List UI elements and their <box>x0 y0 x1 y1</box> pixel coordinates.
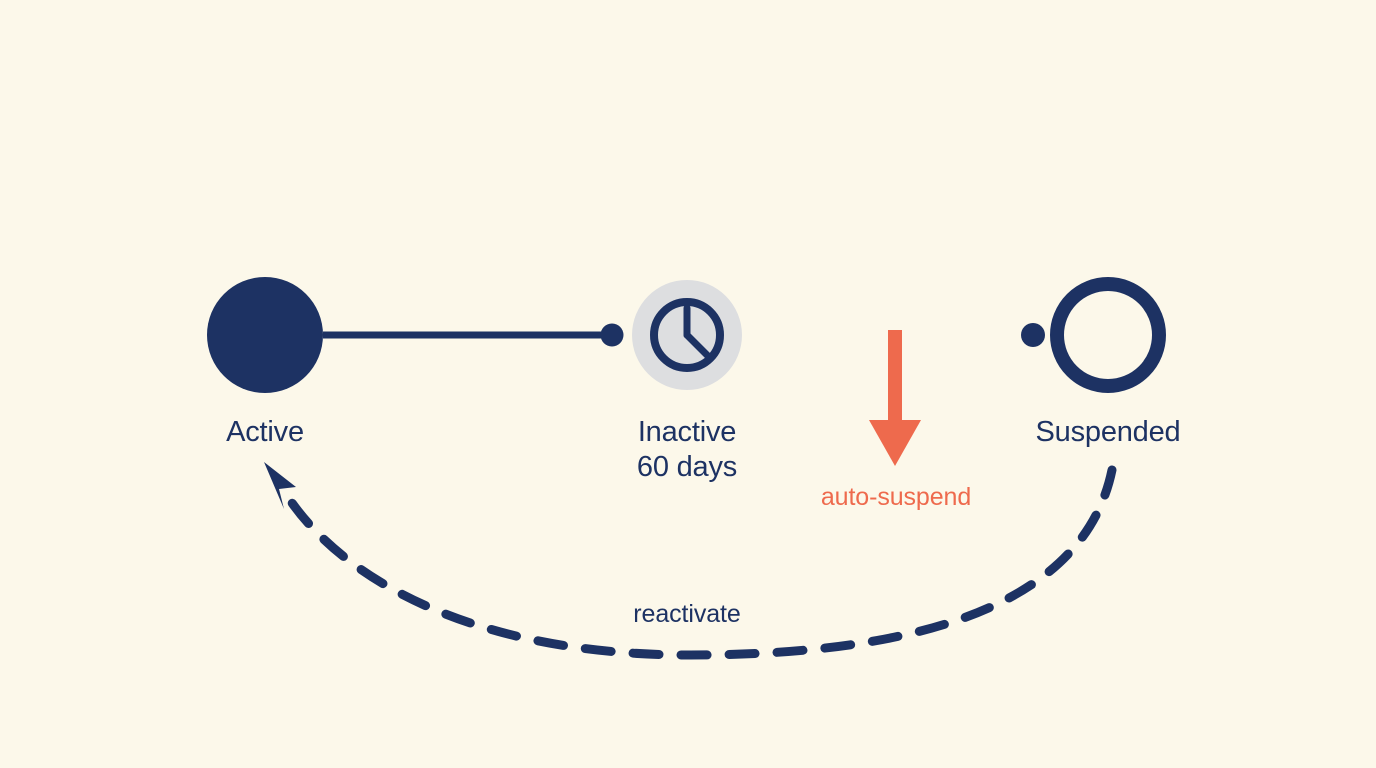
diagram-canvas: Active Inactive 60 days Suspended auto-s… <box>0 0 1376 768</box>
edge-label-reactivate: reactivate <box>633 600 740 628</box>
edge-label-auto-suspend: auto-suspend <box>821 483 971 511</box>
edge-active-to-inactive[interactable] <box>323 324 624 347</box>
auto-suspend-arrowhead-icon <box>869 420 921 466</box>
ring-circle-icon <box>1057 284 1159 386</box>
node-label-inactive-duration: 60 days <box>637 451 737 483</box>
node-label-suspended: Suspended <box>1036 416 1181 448</box>
node-label-inactive: Inactive <box>638 416 736 448</box>
edge-endpoint-dot-left <box>601 324 624 347</box>
node-inactive[interactable] <box>632 280 742 390</box>
node-active[interactable] <box>207 277 323 393</box>
edge-endpoint-dot-right <box>1021 323 1045 347</box>
node-label-active: Active <box>226 416 304 448</box>
node-suspended[interactable] <box>1057 284 1159 386</box>
filled-circle-icon <box>207 277 323 393</box>
state-diagram: Active Inactive 60 days Suspended auto-s… <box>0 0 1376 768</box>
edge-auto-suspend[interactable] <box>869 330 921 466</box>
